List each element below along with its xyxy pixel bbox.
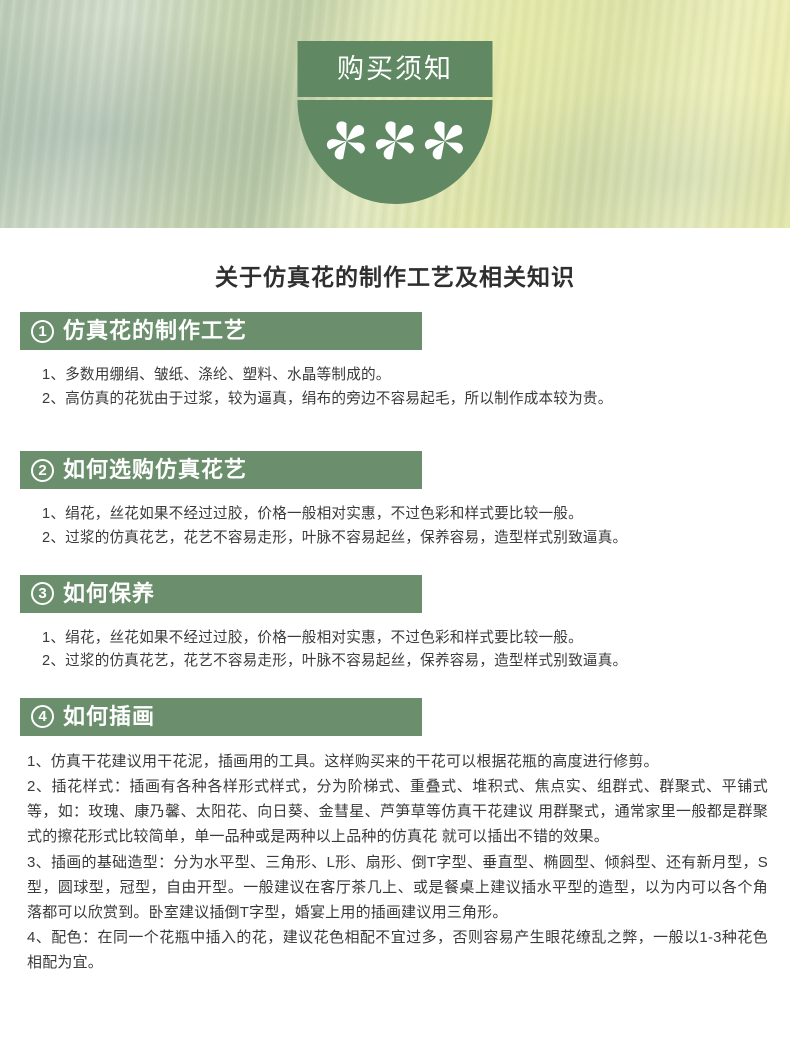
flower-icon xyxy=(325,120,367,162)
hero-badge: 购买须知 xyxy=(298,41,493,204)
section-3-line-2: 2、过浆的仿真花艺，花艺不容易走形，叶脉不容易起丝，保养容易，造型样式别致逼真。 xyxy=(42,650,764,674)
spacer xyxy=(20,557,770,575)
section-2-header: 2 如何选购仿真花艺 xyxy=(20,451,422,489)
spacer xyxy=(20,680,770,698)
section-2-line-1: 1、绢花，丝花如果不经过过胶，价格一般相对实惠，不过色彩和样式要比较一般。 xyxy=(42,503,764,527)
page-title: 关于仿真花的制作工艺及相关知识 xyxy=(20,258,770,292)
section-number-badge: 2 xyxy=(31,459,54,482)
section-4-line-4: 4、配色：在同一个花瓶中插入的花，建议花色相配不宜过多，否则容易产生眼花缭乱之弊… xyxy=(27,925,768,975)
section-4-body: 1、仿真干花建议用干花泥，插画用的工具。这样购买来的干花可以根据花瓶的高度进行修… xyxy=(20,736,770,976)
section-2-body: 1、绢花，丝花如果不经过过胶，价格一般相对实惠，不过色彩和样式要比较一般。 2、… xyxy=(20,489,770,550)
section-4-line-2: 2、插花样式：插画有各种各样形式样式，分为阶梯式、重叠式、堆积式、焦点实、组群式… xyxy=(27,774,768,850)
section-number-badge: 4 xyxy=(31,705,54,728)
section-1-header: 1 仿真花的制作工艺 xyxy=(20,312,422,350)
section-4: 4 如何插画 1、仿真干花建议用干花泥，插画用的工具。这样购买来的干花可以根据花… xyxy=(20,698,770,976)
section-1-title: 仿真花的制作工艺 xyxy=(63,320,247,342)
section-1: 1 仿真花的制作工艺 1、多数用绷绢、皱纸、涤纶、塑料、水晶等制成的。 2、高仿… xyxy=(20,312,770,411)
flower-icon xyxy=(374,120,416,162)
section-number-badge: 1 xyxy=(31,320,54,343)
section-2-line-2: 2、过浆的仿真花艺，花艺不容易走形，叶脉不容易起丝，保养容易，造型样式别致逼真。 xyxy=(42,527,764,551)
section-4-title: 如何插画 xyxy=(63,706,155,728)
section-1-line-2: 2、高仿真的花犹由于过浆，较为逼真，绢布的旁边不容易起毛，所以制作成本较为贵。 xyxy=(42,388,764,412)
section-3-line-1: 1、绢花，丝花如果不经过过胶，价格一般相对实惠，不过色彩和样式要比较一般。 xyxy=(42,627,764,651)
flower-icon xyxy=(423,120,465,162)
section-4-header: 4 如何插画 xyxy=(20,698,422,736)
section-1-line-1: 1、多数用绷绢、皱纸、涤纶、塑料、水晶等制成的。 xyxy=(42,364,764,388)
hero-title: 购买须知 xyxy=(337,56,453,83)
section-3-body: 1、绢花，丝花如果不经过过胶，价格一般相对实惠，不过色彩和样式要比较一般。 2、… xyxy=(20,613,770,674)
section-number-badge: 3 xyxy=(31,582,54,605)
section-3-header: 3 如何保养 xyxy=(20,575,422,613)
spacer xyxy=(20,417,770,451)
hero-title-box: 购买须知 xyxy=(298,41,493,97)
section-4-line-3: 3、插画的基础造型：分为水平型、三角形、L形、扇形、倒T字型、垂直型、椭圆型、倾… xyxy=(27,850,768,926)
section-2: 2 如何选购仿真花艺 1、绢花，丝花如果不经过过胶，价格一般相对实惠，不过色彩和… xyxy=(20,451,770,550)
section-4-line-1: 1、仿真干花建议用干花泥，插画用的工具。这样购买来的干花可以根据花瓶的高度进行修… xyxy=(27,749,768,774)
product-detail-page: 购买须知 xyxy=(0,0,790,1057)
section-2-title: 如何选购仿真花艺 xyxy=(63,459,247,481)
section-1-body: 1、多数用绷绢、皱纸、涤纶、塑料、水晶等制成的。 2、高仿真的花犹由于过浆，较为… xyxy=(20,350,770,411)
section-3: 3 如何保养 1、绢花，丝花如果不经过过胶，价格一般相对实惠，不过色彩和样式要比… xyxy=(20,575,770,674)
hero-shield xyxy=(298,100,493,204)
hero-banner: 购买须知 xyxy=(0,0,790,228)
content-area: 关于仿真花的制作工艺及相关知识 1 仿真花的制作工艺 1、多数用绷绢、皱纸、涤纶… xyxy=(0,258,790,1012)
section-3-title: 如何保养 xyxy=(63,583,155,605)
